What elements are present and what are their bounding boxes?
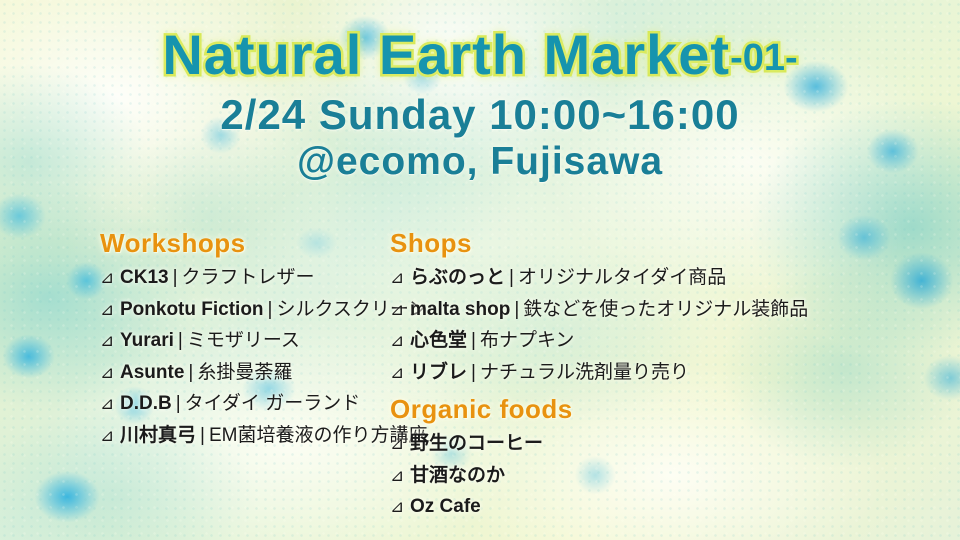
entry-name: Asunte — [120, 357, 184, 389]
list-item: ⊿CK13|クラフトレザー — [100, 262, 382, 294]
entry-name: らぶのっと — [410, 262, 505, 294]
triangle-bullet-icon: ⊿ — [390, 296, 407, 324]
listing-columns: Workshops⊿CK13|クラフトレザー⊿Ponkotu Fiction|シ… — [0, 228, 960, 523]
entry-separator: | — [514, 294, 519, 326]
triangle-bullet-icon: ⊿ — [390, 430, 407, 458]
list-item: ⊿D.D.B|タイダイ ガーランド — [100, 388, 382, 420]
entry-list-shops: ⊿らぶのっと|オリジナルタイダイ商品⊿malta shop|鉄などを使ったオリジ… — [390, 262, 852, 388]
event-date-time: 2/24 Sunday 10:00~16:00 — [0, 91, 960, 138]
triangle-bullet-icon: ⊿ — [390, 359, 407, 387]
section-heading-organic-foods: Organic foods — [390, 394, 852, 425]
poster-header: Natural Earth Market-01- 2/24 Sunday 10:… — [0, 0, 960, 184]
entry-name: Yurari — [120, 325, 174, 357]
entry-separator: | — [178, 325, 183, 357]
entry-description: クラフトレザー — [182, 262, 315, 294]
triangle-bullet-icon: ⊿ — [100, 296, 117, 324]
triangle-bullet-icon: ⊿ — [100, 359, 117, 387]
triangle-bullet-icon: ⊿ — [100, 422, 117, 450]
entry-name: D.D.B — [120, 388, 172, 420]
entry-list-organic-foods: ⊿野生のコーヒー⊿甘酒なのか⊿Oz Cafe — [390, 428, 852, 523]
event-venue: @ecomo, Fujisawa — [0, 140, 960, 184]
triangle-bullet-icon: ⊿ — [100, 390, 117, 418]
section-heading-shops: Shops — [390, 228, 852, 259]
list-item: ⊿らぶのっと|オリジナルタイダイ商品 — [390, 262, 852, 294]
entry-separator: | — [173, 262, 178, 294]
entry-name: 心色堂 — [410, 325, 467, 357]
event-title: Natural Earth Market-01- — [0, 26, 960, 85]
list-item: ⊿リブレ|ナチュラル洗剤量り売り — [390, 357, 852, 389]
triangle-bullet-icon: ⊿ — [390, 327, 407, 355]
triangle-bullet-icon: ⊿ — [100, 327, 117, 355]
entry-name: 野生のコーヒー — [410, 428, 543, 460]
entry-description: ナチュラル洗剤量り売り — [480, 357, 689, 389]
entry-separator: | — [188, 357, 193, 389]
flyer-poster: Natural Earth Market-01- 2/24 Sunday 10:… — [0, 0, 960, 540]
column-left: Workshops⊿CK13|クラフトレザー⊿Ponkotu Fiction|シ… — [0, 228, 382, 451]
entry-name: 甘酒なのか — [410, 460, 505, 492]
list-item: ⊿甘酒なのか — [390, 460, 852, 492]
list-item: ⊿Oz Cafe — [390, 491, 852, 523]
entry-separator: | — [471, 325, 476, 357]
triangle-bullet-icon: ⊿ — [390, 264, 407, 292]
entry-description: タイダイ ガーランド — [185, 388, 361, 420]
triangle-bullet-icon: ⊿ — [100, 264, 117, 292]
triangle-bullet-icon: ⊿ — [390, 493, 407, 521]
triangle-bullet-icon: ⊿ — [390, 462, 407, 490]
entry-separator: | — [509, 262, 514, 294]
entry-name: Ponkotu Fiction — [120, 294, 264, 326]
entry-list-workshops: ⊿CK13|クラフトレザー⊿Ponkotu Fiction|シルクスクリーン⊿Y… — [100, 262, 382, 451]
entry-description: 糸掛曼荼羅 — [197, 357, 292, 389]
entry-name: malta shop — [410, 294, 510, 326]
event-title-main: Natural Earth Market — [162, 23, 730, 86]
list-item: ⊿Yurari|ミモザリース — [100, 325, 382, 357]
poster-content: Natural Earth Market-01- 2/24 Sunday 10:… — [0, 0, 960, 540]
list-item: ⊿Ponkotu Fiction|シルクスクリーン — [100, 294, 382, 326]
list-item: ⊿心色堂|布ナプキン — [390, 325, 852, 357]
entry-name: リブレ — [410, 357, 467, 389]
event-title-suffix: -01- — [730, 37, 798, 79]
entry-name: CK13 — [120, 262, 169, 294]
entry-description: オリジナルタイダイ商品 — [518, 262, 726, 294]
list-item: ⊿malta shop|鉄などを使ったオリジナル装飾品 — [390, 294, 852, 326]
entry-separator: | — [471, 357, 476, 389]
list-item: ⊿野生のコーヒー — [390, 428, 852, 460]
entry-separator: | — [176, 388, 181, 420]
list-item: ⊿Asunte|糸掛曼荼羅 — [100, 357, 382, 389]
entry-separator: | — [268, 294, 273, 326]
column-right: Shops⊿らぶのっと|オリジナルタイダイ商品⊿malta shop|鉄などを使… — [382, 228, 852, 523]
entry-description: ミモザリース — [187, 325, 300, 357]
list-item: ⊿川村真弓|EM菌培養液の作り方講座 — [100, 420, 382, 452]
entry-description: 布ナプキン — [480, 325, 574, 357]
entry-name: Oz Cafe — [410, 491, 481, 523]
entry-name: 川村真弓 — [120, 420, 196, 452]
entry-description: 鉄などを使ったオリジナル装飾品 — [523, 294, 808, 326]
entry-separator: | — [200, 420, 205, 452]
section-heading-workshops: Workshops — [100, 228, 382, 259]
